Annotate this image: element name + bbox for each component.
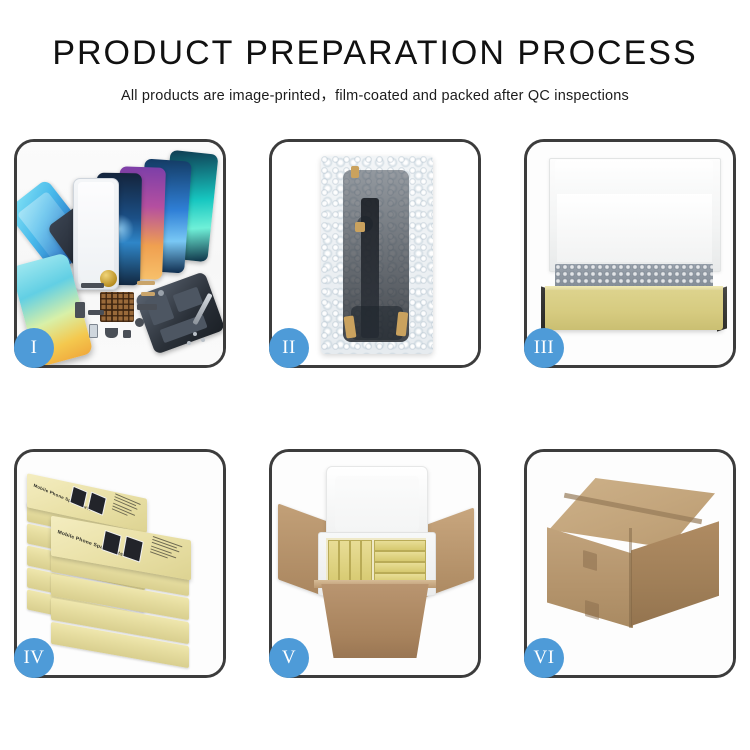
tape-piece-1: [351, 166, 359, 178]
foam-sheet: [557, 194, 712, 262]
box-label-textblock-2: [150, 536, 185, 565]
step-panel-product-parts[interactable]: I: [14, 139, 226, 368]
step-badge-6: VI: [524, 638, 564, 678]
step-4-illustration: Mobile Phone Spare Parts Mobile P: [17, 452, 223, 675]
steps-grid: I II: [14, 139, 736, 678]
screw-head-part: [158, 290, 164, 296]
carton-flap-tab-2: [585, 600, 599, 620]
step-panel-foam-carton[interactable]: V: [269, 449, 481, 678]
step-5-illustration: [272, 452, 478, 675]
step-6-illustration: [527, 452, 733, 675]
flex-cable-part-2: [137, 281, 155, 285]
yellow-boxes-inside: [326, 538, 426, 586]
box-label-screenshot-2: [87, 491, 107, 515]
stacked-boxes: Mobile Phone Spare Parts Mobile P: [25, 470, 221, 666]
carton-vertical-edge: [629, 528, 632, 628]
product-preparation-infographic: PRODUCT PREPARATION PROCESS All products…: [0, 0, 750, 750]
speaker-part: [105, 328, 118, 338]
foam-cooler-lid: [326, 466, 428, 540]
screw-part-1: [193, 332, 197, 336]
step-badge-1: I: [14, 328, 54, 368]
step-panel-box-stack[interactable]: Mobile Phone Spare Parts Mobile P: [14, 449, 226, 678]
step-badge-3: III: [524, 328, 564, 368]
step-panel-sealed-carton[interactable]: VI: [524, 449, 736, 678]
step-panel-inner-box[interactable]: III: [524, 139, 736, 368]
screw-part-3: [187, 341, 191, 345]
sim-tray-part: [89, 324, 98, 338]
header: PRODUCT PREPARATION PROCESS All products…: [0, 0, 750, 105]
step-badge-4: IV: [14, 638, 54, 678]
step-badge-2: II: [269, 328, 309, 368]
tape-piece-2: [355, 222, 365, 232]
copper-board-part: [100, 292, 134, 322]
step-badge-5: V: [269, 638, 309, 678]
flex-cable-part-3: [141, 292, 155, 296]
flex-cable-part-4: [88, 310, 104, 315]
step-3-illustration: [527, 142, 733, 365]
screw-part-2: [201, 338, 205, 342]
step-1-illustration: [17, 142, 223, 365]
connector-part: [123, 330, 131, 338]
bracket-part: [75, 302, 85, 318]
step-panel-bubble-wrap[interactable]: II: [269, 139, 481, 368]
page-title: PRODUCT PREPARATION PROCESS: [0, 36, 750, 72]
step-2-illustration: [272, 142, 478, 365]
flex-cable-part-5: [137, 304, 157, 310]
camera-lens-part: [135, 318, 144, 327]
box-label-textblock-1: [111, 493, 142, 523]
bubble-wrap-package: [321, 156, 433, 354]
flex-cable-part-1: [81, 283, 104, 288]
carton-front-panel: [314, 584, 436, 658]
page-subtitle: All products are image-printed，film-coat…: [0, 84, 750, 105]
carton-flap-tab-1: [583, 550, 597, 571]
box-label-screenshot-4: [122, 535, 144, 562]
yellow-box-front: [545, 290, 723, 330]
part-blob-2: [351, 306, 403, 340]
